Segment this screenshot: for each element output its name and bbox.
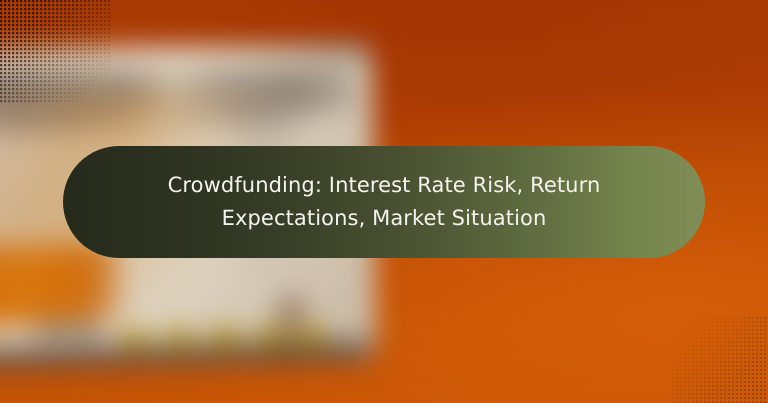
page-title-line-1: Crowdfunding: Interest Rate Risk, Return — [168, 173, 601, 197]
page-title: Crowdfunding: Interest Rate Risk, Return… — [149, 169, 619, 235]
banknote-lower-mark — [34, 322, 102, 340]
halftone-dots-bottom-right — [672, 317, 768, 403]
featured-image-card: Crowdfunding: Interest Rate Risk, Return… — [0, 0, 768, 403]
banknote-orange-patch — [0, 243, 119, 327]
title-pill: Crowdfunding: Interest Rate Risk, Return… — [63, 146, 705, 258]
page-title-line-2: Expectations, Market Situation — [222, 206, 547, 230]
halftone-dots-top-left — [0, 0, 112, 104]
